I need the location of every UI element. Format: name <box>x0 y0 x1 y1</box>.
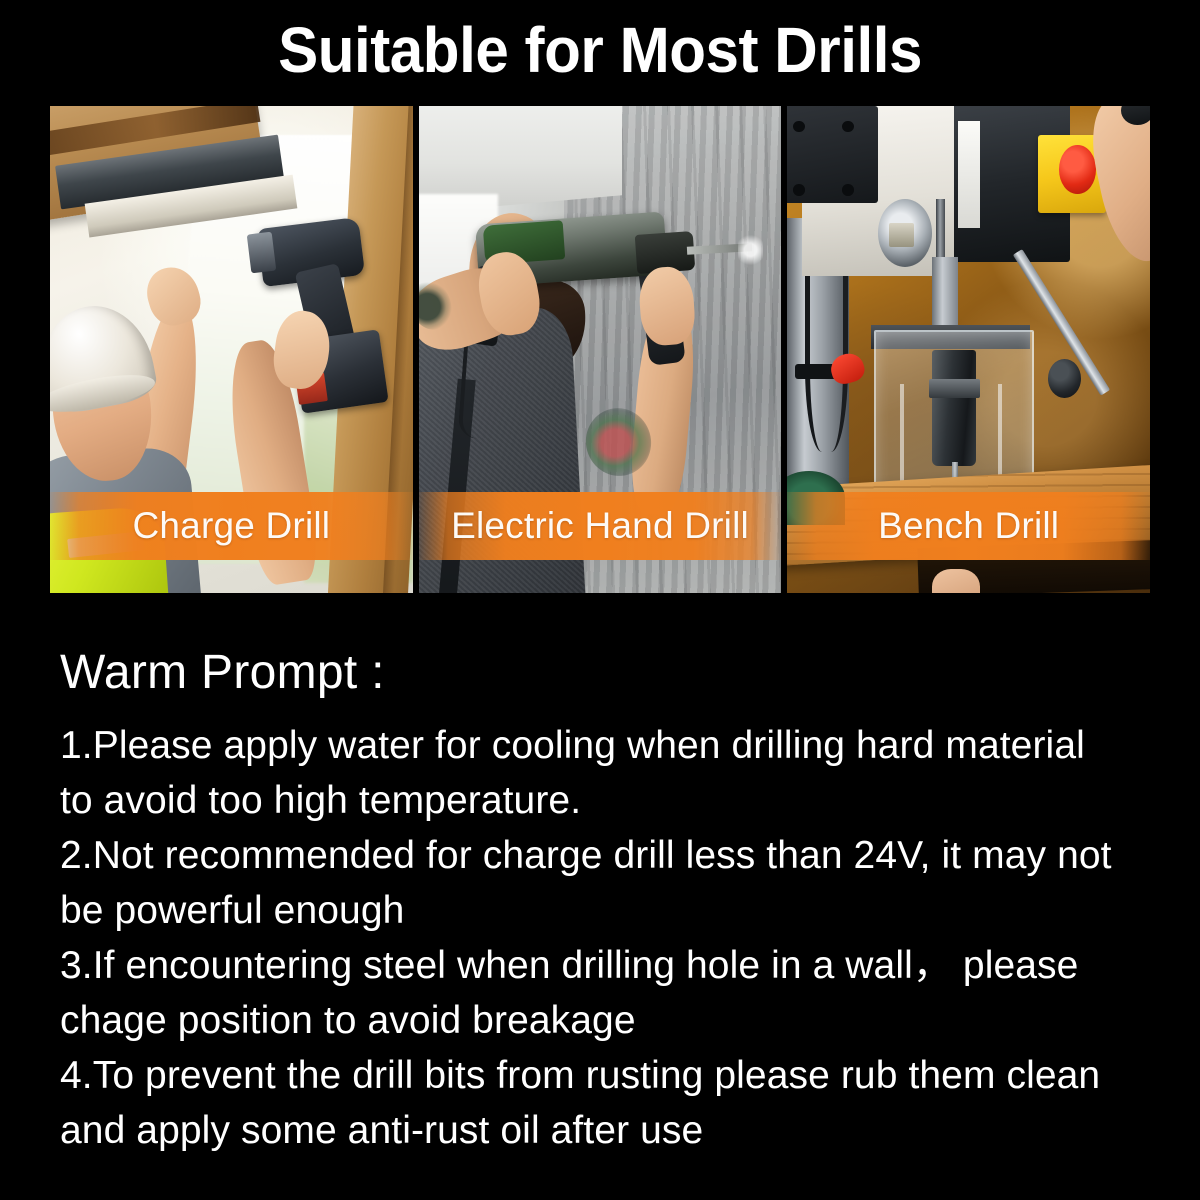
warm-prompt-line: 1.Please apply water for cooling when dr… <box>60 718 1150 773</box>
caption-band-bench-drill: Bench Drill <box>787 492 1150 560</box>
gallery-photo-charge-drill[interactable]: Charge Drill <box>50 106 413 593</box>
gallery-photo-electric-hand-drill[interactable]: Electric Hand Drill <box>419 106 782 593</box>
warm-prompt-heading: Warm Prompt : <box>60 645 385 701</box>
warm-prompt-item: 1.Please apply water for cooling when dr… <box>60 718 1150 828</box>
gallery-photo-bench-drill[interactable]: Bench Drill <box>787 106 1150 593</box>
caption-band-electric-hand-drill: Electric Hand Drill <box>419 492 782 560</box>
warm-prompt-line: 4.To prevent the drill bits from rusting… <box>60 1048 1150 1103</box>
drill-type-gallery: Charge Drill <box>50 106 1150 593</box>
warm-prompt-line: to avoid too high temperature. <box>60 773 1150 828</box>
caption-band-charge-drill: Charge Drill <box>50 492 413 560</box>
warm-prompt-line: 3.If encountering steel when drilling ho… <box>60 938 1150 993</box>
warm-prompt-item: 3.If encountering steel when drilling ho… <box>60 938 1150 1048</box>
warm-prompt-list: 1.Please apply water for cooling when dr… <box>60 718 1150 1158</box>
warm-prompt-line: 2.Not recommended for charge drill less … <box>60 828 1150 883</box>
warm-prompt-line: chage position to avoid breakage <box>60 993 1150 1048</box>
caption-label: Charge Drill <box>132 506 330 546</box>
caption-label: Bench Drill <box>878 506 1059 546</box>
warm-prompt-item: 2.Not recommended for charge drill less … <box>60 828 1150 938</box>
page-title: Suitable for Most Drills <box>36 14 1164 86</box>
warm-prompt-line: and apply some anti-rust oil after use <box>60 1103 1150 1158</box>
product-infographic-page: Suitable for Most Drills <box>0 0 1200 1200</box>
warm-prompt-item: 4.To prevent the drill bits from rusting… <box>60 1048 1150 1158</box>
warm-prompt-line: be powerful enough <box>60 883 1150 938</box>
caption-label: Electric Hand Drill <box>451 506 749 546</box>
